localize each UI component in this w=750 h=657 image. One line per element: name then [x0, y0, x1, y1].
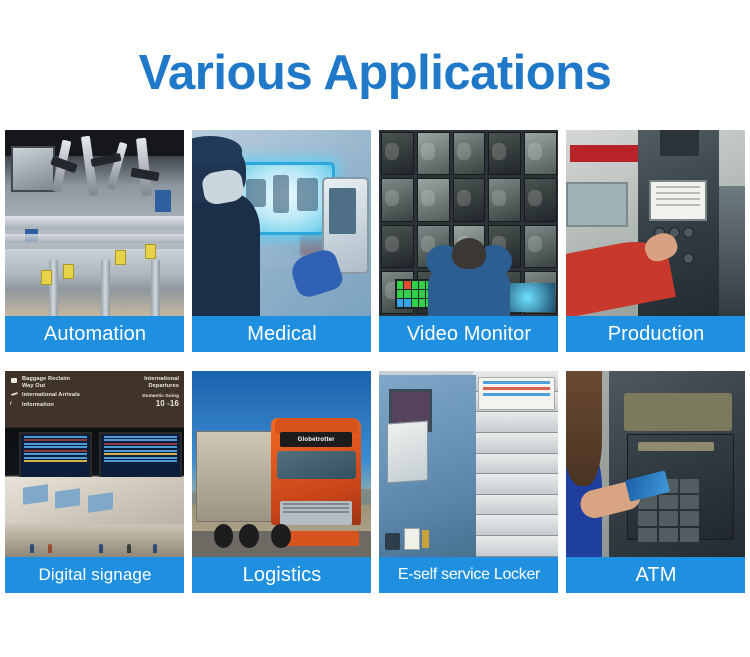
led — [419, 299, 425, 307]
cctv-screen — [524, 132, 557, 175]
yellow-tag-icon — [41, 270, 52, 285]
fid-row — [104, 439, 177, 441]
led — [404, 290, 410, 298]
xray-shape — [297, 178, 318, 211]
traveller-figure — [127, 544, 131, 553]
poster-line — [483, 387, 551, 390]
atm-key[interactable] — [659, 511, 678, 525]
control-panel-screen — [649, 180, 707, 221]
flight-info-display-right — [99, 432, 182, 481]
application-tile-automation[interactable]: Automation — [5, 130, 184, 352]
application-tile-production[interactable]: Production — [566, 130, 745, 352]
led — [397, 299, 403, 307]
led — [404, 281, 410, 289]
locker-door[interactable] — [473, 536, 558, 557]
cctv-screen — [488, 132, 521, 175]
factory-window — [566, 182, 628, 227]
sign-line-4: Information — [22, 402, 54, 410]
fid-row — [104, 457, 177, 459]
cctv-screen — [453, 132, 486, 175]
led — [419, 281, 425, 289]
bench-leg — [101, 260, 110, 316]
logistics-photo: Globetrotter — [192, 371, 371, 557]
cctv-screen — [417, 178, 450, 221]
arrivals-plane-icon — [11, 392, 18, 396]
locker-door[interactable] — [473, 515, 558, 536]
fid-row — [24, 457, 86, 459]
kiosk-label-card — [404, 528, 420, 550]
page-title: Various Applications — [139, 49, 612, 98]
led — [397, 281, 403, 289]
tile-caption-production: Production — [566, 316, 745, 352]
cctv-screen — [524, 225, 557, 268]
operator-body — [428, 264, 511, 316]
monitor-device-screen — [329, 188, 356, 235]
fid-row — [104, 450, 177, 452]
fid-row — [24, 439, 86, 441]
overhead-sign-board: Baggage Reclaim Way Out International Ar… — [5, 371, 184, 427]
atm-key[interactable] — [680, 511, 699, 525]
grille-bar — [283, 511, 349, 513]
panel-line — [656, 198, 700, 200]
sign-line-3: International Arrivals — [22, 392, 80, 400]
sign-right-4: 10 -16 — [156, 399, 179, 410]
machine-monitor-icon — [11, 146, 55, 192]
digital-signage-photo: Baggage Reclaim Way Out International Ar… — [5, 371, 184, 557]
trailer-wheel — [214, 524, 234, 548]
machine-top-block — [660, 130, 700, 156]
radar-map-screen — [509, 283, 556, 313]
application-tile-video-monitor[interactable]: Video Monitor — [379, 130, 558, 352]
conveyor-rail — [5, 216, 184, 229]
application-tile-atm[interactable]: ATM — [566, 371, 745, 593]
cctv-screen — [453, 178, 486, 221]
panel-line — [656, 192, 700, 194]
cctv-screen — [381, 225, 414, 268]
machine-part-blue — [155, 190, 171, 212]
fid-row — [24, 453, 86, 455]
truck-wheel — [271, 524, 291, 548]
application-tile-locker[interactable]: E-self service Locker — [379, 371, 558, 593]
page-title-container: Various Applications — [0, 34, 750, 112]
traveller-figure — [153, 544, 157, 553]
production-photo — [566, 130, 745, 316]
traveller-figure — [48, 544, 52, 553]
locker-door[interactable] — [473, 433, 558, 454]
kiosk-instruction-panel — [387, 421, 428, 484]
cctv-screen — [524, 178, 557, 221]
sign-line-2: Way Out — [22, 383, 45, 391]
atm-key[interactable] — [680, 495, 699, 509]
panel-line — [656, 186, 700, 188]
locker-info-poster — [478, 377, 556, 411]
atm-key[interactable] — [659, 495, 678, 509]
atm-key[interactable] — [680, 479, 699, 493]
led — [412, 299, 418, 307]
atm-photo — [566, 371, 745, 557]
cctv-screen — [417, 132, 450, 175]
tile-caption-video-monitor: Video Monitor — [379, 316, 558, 352]
yellow-tag-icon — [145, 244, 156, 259]
yellow-tag-icon — [115, 250, 126, 265]
led — [397, 290, 403, 298]
tile-caption-logistics: Logistics — [192, 557, 371, 593]
atm-key[interactable] — [680, 528, 699, 542]
atm-card-slot — [638, 442, 714, 451]
applications-grid: Automation — [5, 130, 745, 593]
bench-leg — [49, 260, 58, 316]
locker-photo — [379, 371, 558, 557]
locker-door[interactable] — [473, 454, 558, 475]
video-monitor-photo — [379, 130, 558, 316]
application-tile-digital-signage[interactable]: Baggage Reclaim Way Out International Ar… — [5, 371, 184, 593]
poster-line — [483, 381, 551, 384]
cctv-screen — [381, 132, 414, 175]
atm-key[interactable] — [638, 511, 657, 525]
flight-info-display-left — [19, 432, 91, 481]
fid-row — [24, 443, 86, 445]
poster-line — [483, 393, 551, 396]
locker-door[interactable] — [473, 495, 558, 516]
baggage-icon — [11, 378, 17, 383]
atm-key[interactable] — [638, 528, 657, 542]
tile-caption-medical: Medical — [192, 316, 371, 352]
xray-shape — [273, 175, 289, 212]
truck-brand-label: Globetrotter — [280, 432, 352, 447]
applications-page: Various Applications — [0, 0, 750, 657]
application-tile-medical[interactable]: Medical — [192, 130, 371, 352]
atm-key[interactable] — [659, 528, 678, 542]
tile-caption-automation: Automation — [5, 316, 184, 352]
fid-row — [24, 436, 86, 438]
skylight-panel — [88, 492, 113, 512]
conveyor-rail — [5, 234, 184, 243]
yellow-tag-icon — [63, 264, 74, 279]
customer-hair — [566, 371, 602, 486]
truck-windshield — [277, 451, 356, 479]
cctv-screen — [381, 178, 414, 221]
led — [412, 290, 418, 298]
control-knob[interactable] — [683, 253, 694, 264]
panel-line — [656, 204, 700, 206]
grid-row-2: Baggage Reclaim Way Out International Ar… — [5, 371, 745, 593]
fid-row — [104, 460, 177, 462]
tile-caption-locker: E-self service Locker — [379, 557, 558, 593]
truck-trailer — [196, 431, 281, 522]
machine-side-structure — [717, 186, 745, 316]
grid-row-1: Automation — [5, 130, 745, 352]
fid-row — [104, 453, 177, 455]
led — [419, 290, 425, 298]
fid-row — [104, 443, 177, 445]
information-icon: i — [10, 401, 12, 409]
kiosk-keypad[interactable] — [422, 530, 429, 548]
tile-caption-digital-signage: Digital signage — [5, 557, 184, 593]
tile-caption-atm: ATM — [566, 557, 745, 593]
fid-row — [24, 446, 86, 448]
locker-door[interactable] — [473, 412, 558, 433]
medical-photo — [192, 130, 371, 316]
receipt-slot — [385, 533, 401, 549]
fid-row — [24, 460, 86, 462]
grille-bar — [283, 503, 349, 505]
fid-row — [104, 446, 177, 448]
operator-head — [452, 238, 486, 270]
fid-row — [24, 450, 86, 452]
atm-canopy — [624, 393, 732, 430]
bench-leg — [151, 260, 160, 316]
control-knob[interactable] — [683, 227, 694, 238]
grille-bar — [283, 507, 349, 509]
fid-row — [104, 436, 177, 438]
locker-door[interactable] — [473, 474, 558, 495]
traveller-figure — [99, 544, 103, 553]
sign-right-2: Departures — [148, 383, 179, 391]
led — [404, 299, 410, 307]
kiosk-terminal[interactable] — [379, 375, 476, 557]
automation-photo — [5, 130, 184, 316]
cctv-screen — [488, 178, 521, 221]
traveller-figure — [30, 544, 34, 553]
doctor-body — [192, 193, 260, 316]
application-tile-logistics[interactable]: Globetrotter Logistics — [192, 371, 371, 593]
truck-grille — [280, 501, 352, 525]
led — [412, 281, 418, 289]
trailer-wheel — [239, 524, 259, 548]
